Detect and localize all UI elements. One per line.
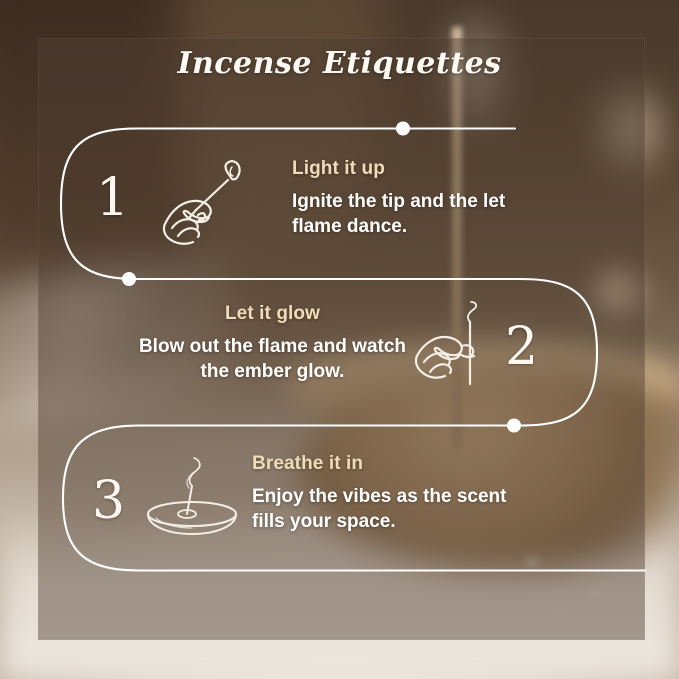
step-3-text-block: Breathe it in Enjoy the vibes as the sce… — [252, 453, 514, 535]
step-3-heading: Breathe it in — [252, 453, 514, 475]
step-1-number: 1 — [96, 172, 129, 224]
page-title: Incense Etiquettes — [0, 46, 679, 81]
step-2-body: Blow out the flame and watch the ember g… — [135, 334, 410, 385]
step-2-heading: Let it glow — [135, 303, 410, 325]
step-2: 2 Let it glow Blow out the flame and wat… — [0, 279, 679, 426]
incense-stick-in-bowl-holder-icon — [140, 452, 244, 540]
step-2-text-block: Let it glow Blow out the flame and watch… — [135, 303, 410, 385]
step-1: 1 Light it up Ignite the tip and the let… — [0, 128, 679, 280]
step-2-number: 2 — [505, 321, 538, 373]
step-1-body: Ignite the tip and the let flame dance. — [292, 189, 542, 240]
step-3-body: Enjoy the vibes as the scent fills your … — [252, 484, 514, 535]
step-3: 3 Breathe it in Enjoy the vibes as the s… — [0, 427, 679, 571]
step-3-number: 3 — [92, 475, 125, 527]
step-1-heading: Light it up — [292, 158, 542, 180]
step-1-text-block: Light it up Ignite the tip and the let f… — [292, 158, 542, 240]
infographic-canvas: Incense Etiquettes 1 Light it — [0, 0, 679, 679]
hand-holding-lit-match-icon — [152, 160, 254, 248]
hand-holding-smoking-incense-stick-icon — [412, 300, 508, 392]
